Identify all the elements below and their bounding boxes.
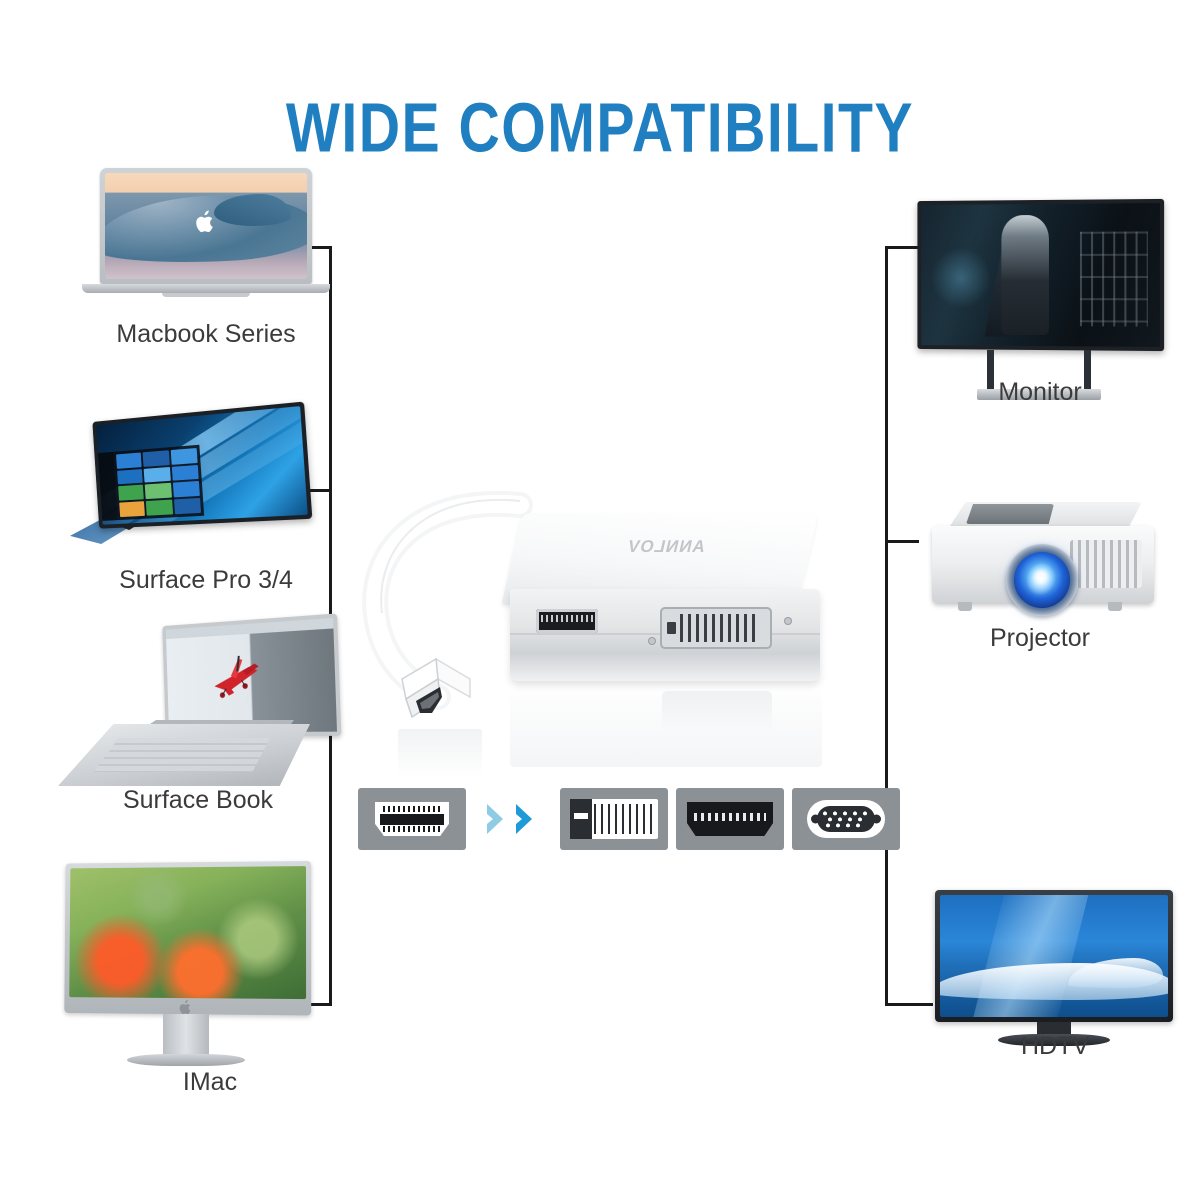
dvi-screw-left [648, 637, 656, 645]
connector-compatibility-row [358, 788, 900, 850]
projector-control-panel [966, 504, 1054, 524]
bracket-tick-hdtv [885, 1003, 933, 1006]
surface-pro-tablet-icon [92, 402, 312, 529]
connector-reflection [398, 729, 482, 777]
device-projector [930, 502, 1156, 618]
dvi-port-reflection [662, 691, 772, 731]
projector-foot [1108, 602, 1122, 611]
imac-desktop-icon [64, 861, 311, 1016]
macbook-laptop-icon [100, 168, 312, 284]
dvi-flat-block [570, 799, 592, 839]
dvi-flat-pin [574, 813, 588, 819]
surface-book-screen [166, 618, 337, 732]
macbook-base [82, 284, 330, 293]
vga-port-icon [792, 788, 900, 850]
imac-stand-base [127, 1054, 245, 1066]
dvi-flat-pin [667, 622, 676, 634]
page-title: WIDE COMPATIBILITY [18, 88, 1182, 168]
device-hdtv [935, 890, 1173, 1050]
adapter-hdmi-port [536, 609, 598, 633]
dvi-screw-right [784, 617, 792, 625]
poppy-flowers-graphic [69, 866, 306, 999]
app-toolbar [166, 618, 334, 639]
dvi-pin-grid [680, 614, 756, 642]
red-airplane-graphic [191, 652, 296, 705]
device-surface-book [58, 620, 338, 780]
surface-book-laptop-icon [162, 613, 341, 736]
label-monitor: Monitor [900, 378, 1180, 407]
scene-glow [931, 247, 992, 309]
surface-book-keys [94, 738, 270, 772]
mdp-pins-bottom [383, 826, 441, 832]
mini-displayport-connector [396, 657, 480, 731]
hdtv-screen [940, 895, 1168, 1017]
projector-icon [930, 502, 1156, 618]
imac-stand-neck [163, 1014, 209, 1058]
bracket-tick-projector [885, 540, 919, 543]
product-adapter: ANNLOV [360, 485, 860, 775]
imac-screen [69, 866, 306, 999]
device-macbook [82, 168, 330, 300]
dvi-pin-grid [594, 804, 652, 834]
hdmi-pins [694, 813, 766, 821]
dvi-glyph [570, 799, 658, 839]
device-monitor [915, 200, 1163, 400]
hdtv-television-icon [935, 890, 1173, 1022]
hdmi-glyph [687, 802, 773, 836]
apple-logo-icon [180, 1000, 193, 1015]
device-imac [62, 862, 310, 1072]
chevron-1 [485, 802, 513, 836]
mdp-pins-top [383, 806, 441, 812]
vga-pin-grid [817, 806, 875, 832]
hdmi-port-icon [676, 788, 784, 850]
label-surface-book: Surface Book [48, 786, 348, 815]
surface-pro-screen [96, 406, 308, 525]
game-gate-structure [1080, 232, 1148, 327]
label-macbook-series: Macbook Series [56, 320, 356, 349]
chevron-2 [514, 802, 542, 836]
label-surface-pro: Surface Pro 3/4 [56, 566, 356, 595]
label-imac: IMac [60, 1068, 360, 1097]
device-surface-pro [62, 412, 326, 546]
mini-displayport-glyph [375, 802, 449, 836]
vga-screw-right [872, 815, 881, 824]
infographic-canvas: WIDE COMPATIBILITY Macbook Series [0, 0, 1200, 1200]
projector-vent [1070, 540, 1142, 588]
game-character-figure [1001, 215, 1049, 334]
apple-logo-icon [196, 210, 216, 233]
label-projector: Projector [900, 624, 1180, 653]
bracket-spine [885, 246, 888, 1006]
label-hdtv: HDTV [925, 1032, 1185, 1061]
mini-displayport-icon [358, 788, 466, 850]
dvi-port-icon [560, 788, 668, 850]
projector-foot [958, 602, 972, 611]
adapter-dvi-port [660, 607, 772, 649]
macbook-screen [105, 173, 307, 279]
macbook-foot [162, 293, 250, 297]
double-chevron-right-icon [482, 788, 544, 850]
desktop-monitor-icon [917, 199, 1164, 351]
start-menu-tiles [113, 445, 204, 520]
vga-glyph [807, 800, 885, 838]
monitor-screen [921, 203, 1160, 347]
brand-logo-text: ANNLOV [604, 537, 729, 557]
mdp-slot [380, 814, 444, 825]
